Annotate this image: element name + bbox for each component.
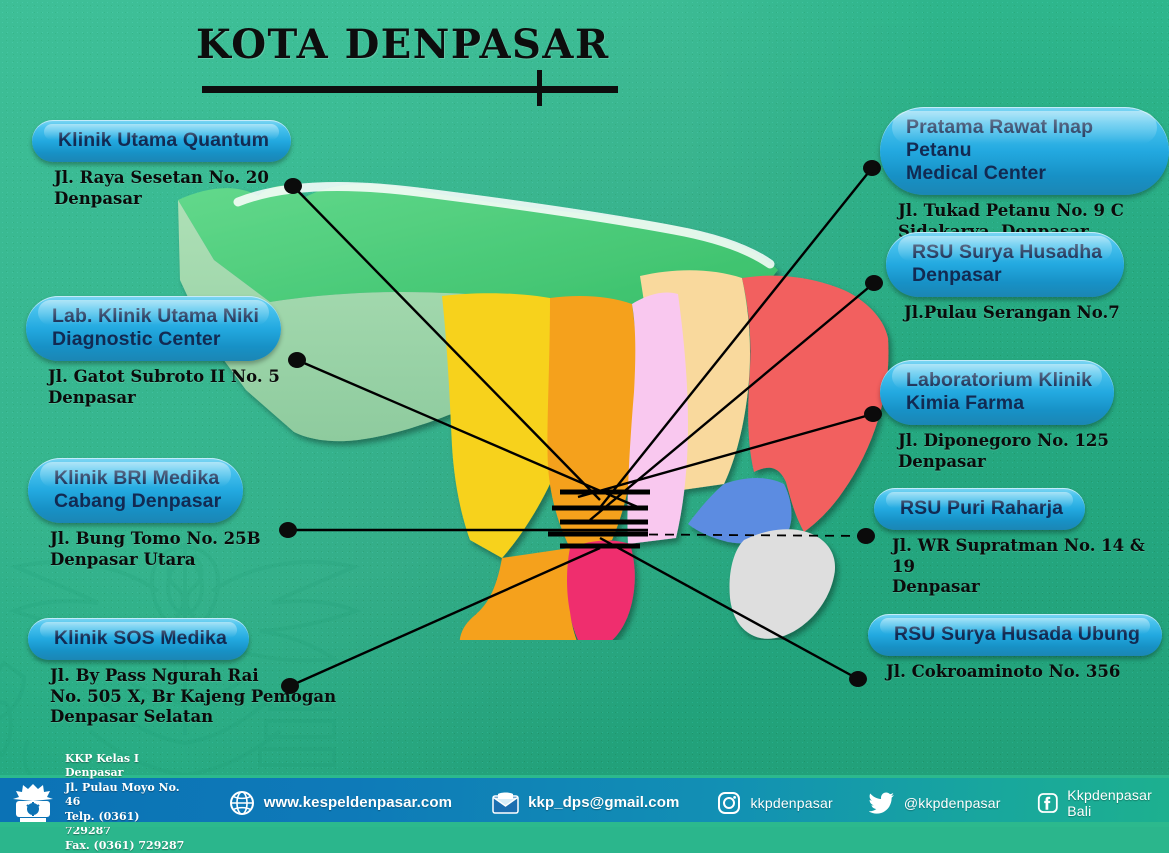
callout-lab-klinik-utama-niki[interactable]: Lab. Klinik Utama Niki Diagnostic Center… bbox=[26, 296, 281, 408]
callout-address-rsu-puri-raharja: Jl. WR Supratman No. 14 & 19 Denpasar bbox=[892, 536, 1169, 598]
facebook-icon bbox=[1037, 791, 1059, 815]
callout-address-rsu-surya-husada-ubung: Jl. Cokroaminoto No. 356 bbox=[886, 662, 1162, 683]
callout-label-rsu-surya-husadha-denpasar[interactable]: RSU Surya Husadha Denpasar bbox=[886, 232, 1124, 297]
callout-address-klinik-sos-medika: Jl. By Pass Ngurah Rai No. 505 X, Br Kaj… bbox=[50, 666, 336, 728]
footer-email-text[interactable]: kkp_dps@gmail.com bbox=[528, 794, 679, 811]
callout-rsu-puri-raharja[interactable]: RSU Puri Raharja Jl. WR Supratman No. 14… bbox=[874, 488, 1169, 598]
twitter-bird-icon bbox=[869, 792, 895, 814]
callout-pratama-rawat-inap-petanu[interactable]: Pratama Rawat Inap Petanu Medical Center… bbox=[880, 107, 1169, 242]
callout-laboratorium-klinik-kimia-farma[interactable]: Laboratorium Klinik Kimia Farma Jl. Dipo… bbox=[880, 360, 1169, 472]
callout-label-pratama-rawat-inap-petanu[interactable]: Pratama Rawat Inap Petanu Medical Center bbox=[880, 107, 1169, 195]
envelope-icon bbox=[492, 792, 519, 814]
callout-label-lab-klinik-utama-niki[interactable]: Lab. Klinik Utama Niki Diagnostic Center bbox=[26, 296, 281, 361]
callout-rsu-surya-husadha-denpasar[interactable]: RSU Surya Husadha Denpasar Jl.Pulau Sera… bbox=[886, 232, 1124, 324]
footer-email[interactable]: kkp_dps@gmail.com bbox=[492, 792, 679, 814]
map-region-bukit-peninsula bbox=[460, 548, 580, 640]
callout-klinik-sos-medika[interactable]: Klinik SOS Medika Jl. By Pass Ngurah Rai… bbox=[28, 618, 336, 728]
footer-bar: KKP Kelas I Denpasar Jl. Pulau Moyo No. … bbox=[0, 775, 1169, 827]
map-region-nusa-penida bbox=[730, 529, 836, 639]
callout-label-klinik-bri-medika[interactable]: Klinik BRI Medika Cabang Denpasar bbox=[28, 458, 243, 523]
title-underline bbox=[202, 86, 618, 93]
footer-website[interactable]: www.kespeldenpasar.com bbox=[229, 790, 452, 816]
instagram-icon bbox=[717, 791, 741, 815]
map-region-denpasar bbox=[566, 541, 635, 640]
footer-organization: KKP Kelas I Denpasar Jl. Pulau Moyo No. … bbox=[65, 752, 189, 853]
map-region-gianyar bbox=[627, 292, 688, 544]
footer-facebook-text[interactable]: Kkpdenpasar Bali bbox=[1067, 787, 1169, 819]
title-tick-mark bbox=[537, 70, 542, 106]
globe-icon bbox=[229, 790, 255, 816]
map-region-badung bbox=[547, 296, 638, 548]
page-title: KOTA DENPASAR bbox=[196, 24, 636, 66]
page-title-block: KOTA DENPASAR bbox=[196, 24, 636, 66]
callout-label-klinik-sos-medika[interactable]: Klinik SOS Medika bbox=[28, 618, 249, 660]
footer-instagram-text[interactable]: kkpdenpasar bbox=[750, 795, 832, 811]
footer-instagram[interactable]: kkpdenpasar bbox=[717, 791, 832, 815]
callout-address-lab-klinik-utama-niki: Jl. Gatot Subroto II No. 5 Denpasar bbox=[48, 367, 281, 408]
footer-facebook[interactable]: Kkpdenpasar Bali bbox=[1037, 787, 1169, 819]
callout-label-rsu-puri-raharja[interactable]: RSU Puri Raharja bbox=[874, 488, 1085, 530]
callout-label-klinik-utama-quantum[interactable]: Klinik Utama Quantum bbox=[32, 120, 291, 162]
callout-rsu-surya-husada-ubung[interactable]: RSU Surya Husada Ubung Jl. Cokroaminoto … bbox=[868, 614, 1162, 683]
callout-address-klinik-utama-quantum: Jl. Raya Sesetan No. 20 Denpasar bbox=[54, 168, 291, 209]
callout-label-laboratorium-klinik-kimia-farma[interactable]: Laboratorium Klinik Kimia Farma bbox=[880, 360, 1114, 425]
callout-address-rsu-surya-husadha-denpasar: Jl.Pulau Serangan No.7 bbox=[904, 303, 1124, 324]
callout-klinik-bri-medika[interactable]: Klinik BRI Medika Cabang Denpasar Jl. Bu… bbox=[28, 458, 261, 570]
footer-website-text[interactable]: www.kespeldenpasar.com bbox=[264, 794, 452, 811]
callout-address-laboratorium-klinik-kimia-farma: Jl. Diponegoro No. 125 Denpasar bbox=[898, 431, 1169, 472]
footer-twitter[interactable]: @kkpdenpasar bbox=[869, 792, 1001, 814]
footer-twitter-text[interactable]: @kkpdenpasar bbox=[904, 795, 1001, 811]
callout-label-rsu-surya-husada-ubung[interactable]: RSU Surya Husada Ubung bbox=[868, 614, 1162, 656]
kkp-emblem-icon bbox=[10, 781, 56, 825]
callout-klinik-utama-quantum[interactable]: Klinik Utama Quantum Jl. Raya Sesetan No… bbox=[32, 120, 291, 209]
callout-address-klinik-bri-medika: Jl. Bung Tomo No. 25B Denpasar Utara bbox=[50, 529, 261, 570]
